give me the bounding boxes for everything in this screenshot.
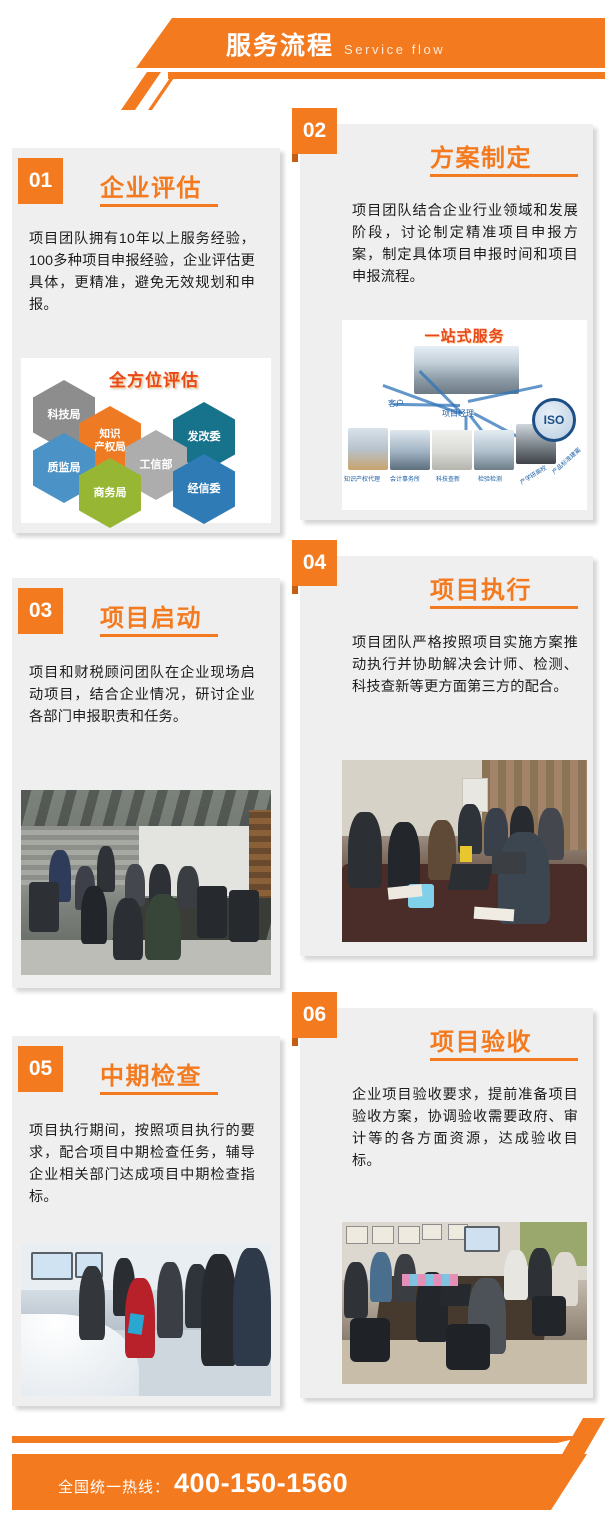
- service-label-center: 项目经理: [442, 408, 474, 419]
- step-number-06: 06: [303, 1003, 326, 1027]
- service-photo-meeting: [414, 346, 519, 394]
- step-title-rule-01: [100, 204, 218, 207]
- step-badge-notch-06: [292, 1038, 298, 1046]
- step-number-02: 02: [303, 119, 326, 143]
- step-badge-01: 01: [18, 158, 63, 204]
- step-number-05: 05: [29, 1057, 52, 1081]
- page-title: 服务流程: [226, 26, 334, 62]
- footer-accent-line: [12, 1436, 587, 1443]
- step-number-01: 01: [29, 169, 52, 193]
- step-title-rule-05: [100, 1092, 218, 1095]
- step-title-03: 项目启动: [100, 598, 202, 633]
- service-seal-icon: ISO: [532, 398, 576, 442]
- step-body-01: 项目团队拥有10年以上服务经验，100多种项目申报经验，企业评估更具体，更精准，…: [29, 228, 255, 316]
- step-title-04: 项目执行: [430, 570, 532, 605]
- step-badge-06: 06: [292, 992, 337, 1038]
- service-flow-diagram: 一站式服务 客户 项目经理 ISO 知识产权代理 会计事务所 科技查新 检验检测…: [342, 320, 587, 510]
- step-body-02: 项目团队结合企业行业领域和发展阶段，讨论制定精准项目申报方案，制定具体项目申报时…: [352, 200, 578, 288]
- step-badge-notch-02: [292, 154, 298, 162]
- step-badge-02: 02: [292, 108, 337, 154]
- footer-hotline-label: 全国统一热线：: [58, 1476, 170, 1497]
- step-card-01: 01 企业评估 项目团队拥有10年以上服务经验，100多种项目申报经验，企业评估…: [12, 148, 280, 533]
- hex-diagram: 全方位评估 科技局 知识 产权局 发改委 质监局 工信部 经信委 商务局: [21, 358, 271, 523]
- step-card-02: 02 方案制定 项目团队结合企业行业领域和发展阶段，讨论制定精准项目申报方案，制…: [300, 124, 593, 520]
- step-body-03: 项目和财税顾问团队在企业现场启动项目，结合企业情况，研讨企业各部门申报职责和任务…: [29, 662, 255, 728]
- step-title-01: 企业评估: [100, 168, 202, 203]
- header-title-group: 服务流程 Service flow: [226, 26, 445, 62]
- service-node-label-2: 会计事务所: [390, 474, 420, 483]
- footer-slash: [553, 1418, 605, 1470]
- service-photo-search: [432, 430, 472, 470]
- service-photo-testing: [474, 430, 514, 470]
- header-underline: [168, 72, 605, 79]
- step-badge-05: 05: [18, 1046, 63, 1092]
- service-photo-accounting: [390, 430, 430, 470]
- step-badge-04: 04: [292, 540, 337, 586]
- step-card-04: 04 项目执行 项目团队严格按照项目实施方案推动执行并协助解决会计师、检测、科技…: [300, 556, 593, 956]
- step-title-rule-04: [430, 606, 578, 609]
- step-card-03: 03 项目启动 项目和财税顾问团队在企业现场启动项目，结合企业情况，研讨企业各部…: [12, 578, 280, 988]
- page-header: 服务流程 Service flow: [0, 0, 605, 112]
- step-badge-03: 03: [18, 588, 63, 634]
- step-title-rule-02: [430, 174, 578, 177]
- step-number-04: 04: [303, 551, 326, 575]
- page-footer: 全国统一热线： 400-150-1560: [0, 1410, 605, 1538]
- step-card-06: 06 项目验收 企业项目验收要求，提前准备项目验收方案，协调验收需要政府、审计等…: [300, 1008, 593, 1398]
- step-title-06: 项目验收: [430, 1022, 532, 1057]
- step-title-rule-06: [430, 1058, 578, 1061]
- step-number-03: 03: [29, 599, 52, 623]
- step-card-05: 05 中期检查 项目执行期间，按照项目执行的要求，配合项目中期检查任务，辅导企业…: [12, 1036, 280, 1406]
- page-subtitle: Service flow: [344, 42, 445, 57]
- service-node-label-5: 产学研高校: [518, 463, 548, 487]
- photo-project-execution: [342, 760, 587, 942]
- step-title-02: 方案制定: [430, 138, 532, 173]
- photo-project-acceptance: [342, 1222, 587, 1384]
- service-diagram-title: 一站式服务: [342, 325, 587, 346]
- step-badge-notch-04: [292, 586, 298, 594]
- step-body-04: 项目团队严格按照项目实施方案推动执行并协助解决会计师、检测、科技查新等更方面第三…: [352, 632, 578, 698]
- step-title-rule-03: [100, 634, 218, 637]
- photo-project-kickoff: [21, 790, 271, 975]
- service-photo-ip: [348, 428, 388, 470]
- step-body-06: 企业项目验收要求，提前准备项目验收方案，协调验收需要政府、审计等的各方面资源，达…: [352, 1084, 578, 1172]
- service-node-label-4: 检验检测: [478, 474, 502, 483]
- footer-hotline-number[interactable]: 400-150-1560: [174, 1468, 348, 1499]
- service-node-label-3: 科技查新: [436, 474, 460, 483]
- photo-midterm-inspection: [21, 1244, 271, 1396]
- footer-hotline-group: 全国统一热线： 400-150-1560: [58, 1468, 348, 1499]
- service-label-client: 客户: [388, 398, 404, 409]
- step-body-05: 项目执行期间，按照项目执行的要求，配合项目中期检查任务，辅导企业相关部门达成项目…: [29, 1120, 255, 1208]
- service-node-label-1: 知识产权代理: [344, 474, 380, 483]
- hex-diagram-title: 全方位评估: [109, 366, 199, 391]
- step-title-05: 中期检查: [100, 1056, 202, 1091]
